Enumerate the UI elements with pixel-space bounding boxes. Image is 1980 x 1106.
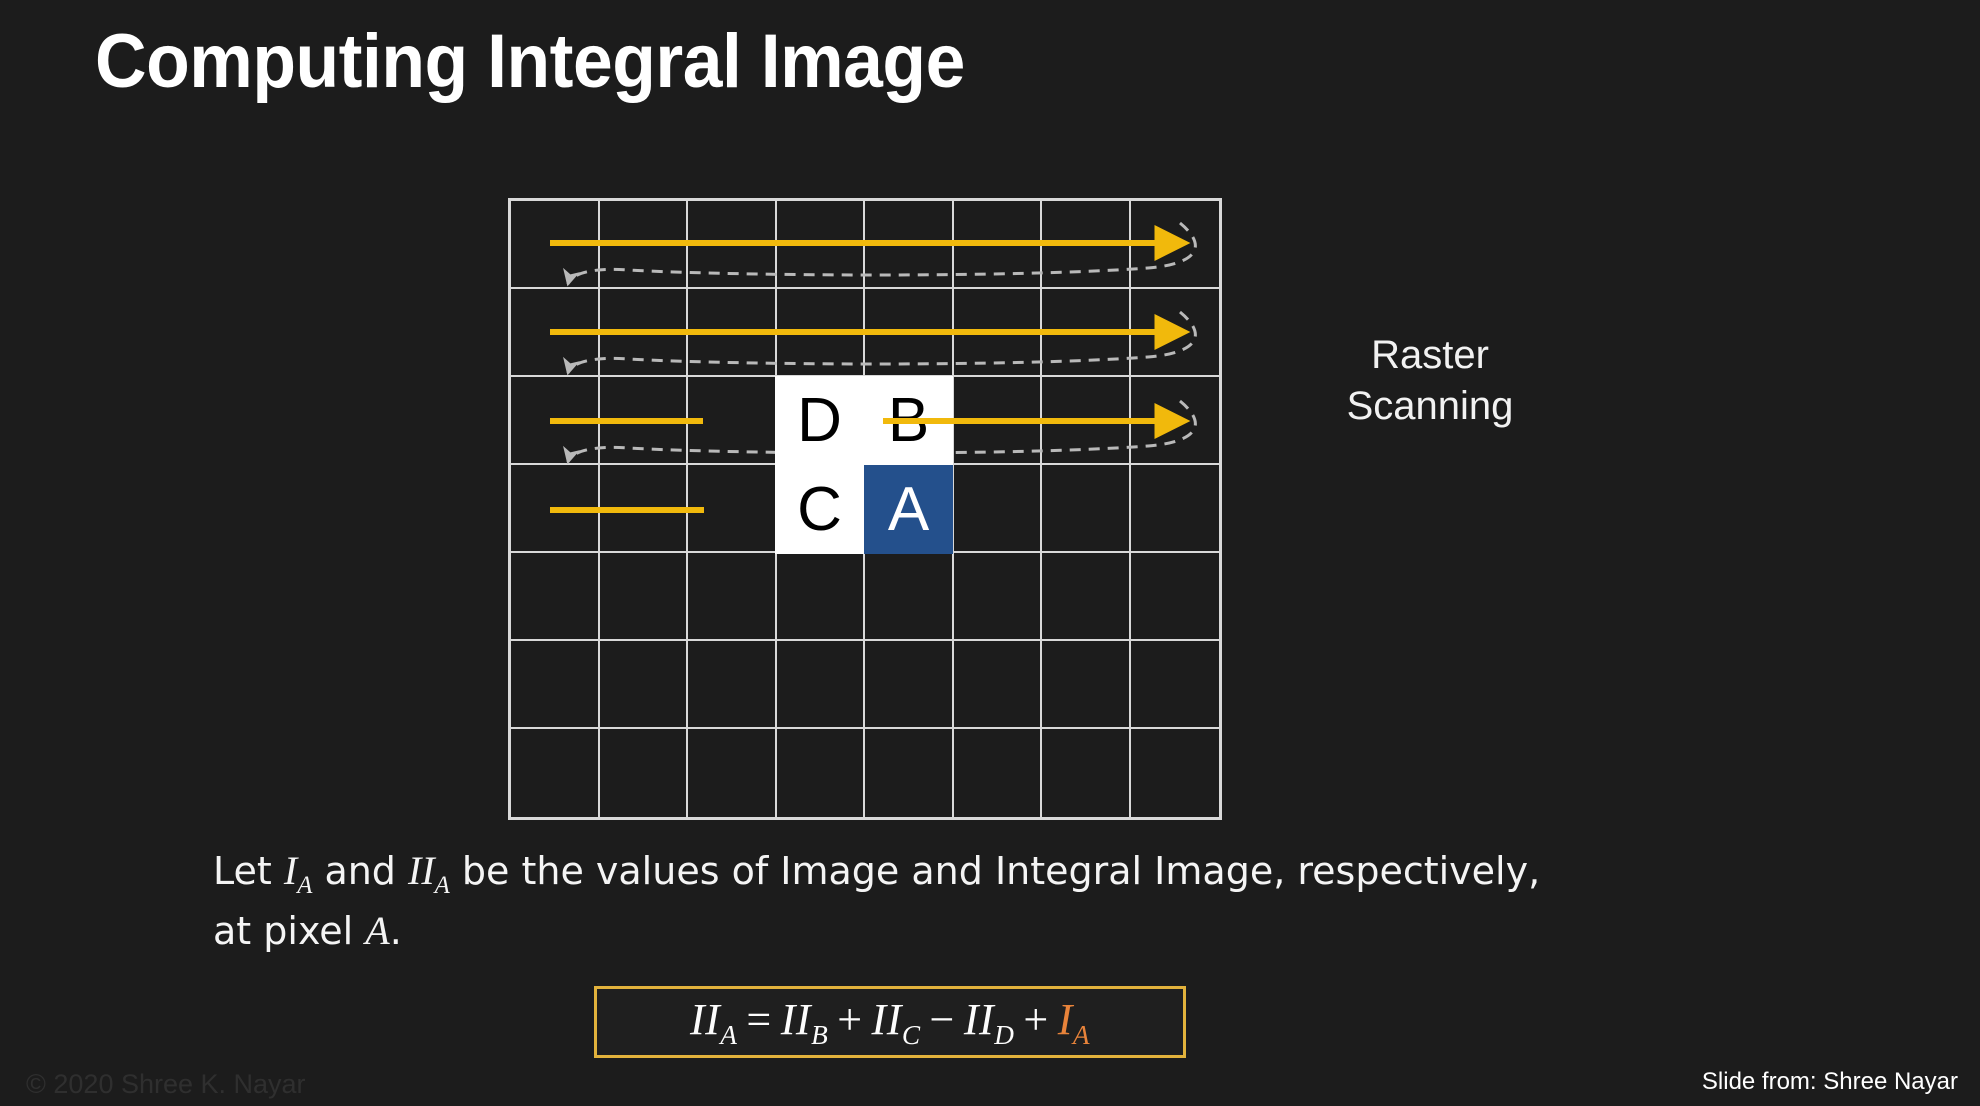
copyright-notice: © 2020 Shree K. Nayar (26, 1069, 306, 1100)
grid-cell-label: D (797, 385, 842, 456)
symbol-image-value: IA (284, 848, 312, 893)
symbol-subscript: A (297, 872, 312, 899)
formula-term-image-a: IA (1058, 995, 1090, 1044)
return-path-2 (568, 312, 1195, 373)
formula-operator-plus-1: + (828, 995, 871, 1044)
explanation-text: Let IA and IIA be the values of Image an… (213, 843, 1563, 958)
formula-box: IIA=IIB+IIC−IID+IA (594, 986, 1186, 1058)
caption-line-2: Scanning (1300, 381, 1560, 432)
formula-operator-plus-2: + (1014, 995, 1057, 1044)
formula-lhs: IIA (690, 995, 737, 1044)
grid-cell-B[interactable]: B (864, 376, 953, 465)
formula-term-d: IID (964, 995, 1015, 1044)
grid-cell-D[interactable]: D (775, 376, 864, 465)
formula-equals: = (737, 995, 780, 1044)
integral-image-grid: D B C A (508, 198, 1222, 820)
symbol-pixel-a: A (365, 908, 389, 953)
grid-cell-A[interactable]: A (864, 465, 953, 554)
grid-cell-label: B (888, 385, 929, 456)
formula-term-c: IIC (872, 995, 921, 1044)
integral-image-formula: IIA=IIB+IIC−IID+IA (690, 994, 1090, 1051)
grid-cell-label: A (888, 474, 929, 545)
grid-cell-C[interactable]: C (775, 465, 864, 554)
formula-operator-minus: − (921, 995, 964, 1044)
explanation-part-2: and (312, 849, 408, 893)
explanation-part-4: . (390, 909, 402, 953)
raster-scanning-caption: Raster Scanning (1300, 330, 1560, 432)
page-title: Computing Integral Image (95, 18, 965, 105)
symbol-subscript: A (435, 872, 450, 899)
formula-term-b: IIB (781, 995, 828, 1044)
return-path-1 (568, 223, 1195, 284)
slide-attribution: Slide from: Shree Nayar (1702, 1068, 1958, 1096)
grid-cell-label: C (797, 474, 842, 545)
explanation-part-1: Let (213, 849, 284, 893)
caption-line-1: Raster (1300, 330, 1560, 381)
symbol-integral-image-value: IIA (408, 848, 450, 893)
slide-canvas: Computing Integral Image (0, 0, 1980, 1106)
